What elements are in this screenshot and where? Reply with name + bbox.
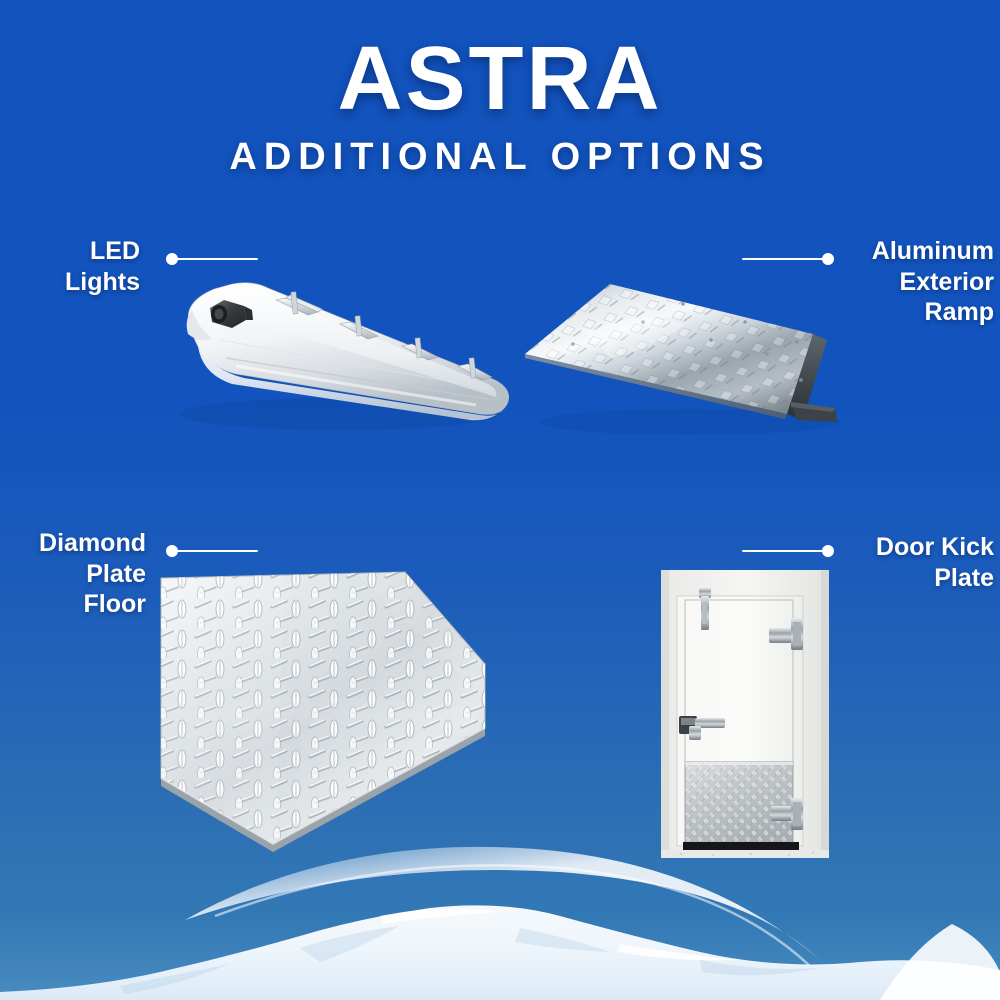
callout-label-door-kick-plate: Door Kick Plate xyxy=(836,532,994,593)
callout-line: Exterior xyxy=(836,267,994,298)
connector-line xyxy=(174,550,258,552)
poster-canvas: ASTRA ADDITIONAL OPTIONS LED Lights Alum… xyxy=(0,0,1000,1000)
connector-aluminum-exterior-ramp xyxy=(742,253,834,265)
callout-line: Floor xyxy=(8,589,146,620)
callout-line: LED xyxy=(10,236,140,267)
page-subtitle: ADDITIONAL OPTIONS xyxy=(0,138,1000,176)
callout-label-led-lights: LED Lights xyxy=(10,236,140,297)
kick-plate-panel xyxy=(685,762,793,844)
connector-dot-icon xyxy=(822,545,834,557)
product-image-diamond-plate-floor xyxy=(155,568,507,856)
page-title: ASTRA xyxy=(0,34,1000,124)
callout-line: Aluminum xyxy=(836,236,994,267)
callout-line: Ramp xyxy=(836,297,994,328)
product-image-door-kick-plate xyxy=(655,566,835,866)
callout-label-aluminum-exterior-ramp: Aluminum Exterior Ramp xyxy=(836,236,994,328)
connector-line xyxy=(174,258,258,260)
product-image-led-light-fixture xyxy=(140,262,530,452)
product-image-aluminum-exterior-ramp xyxy=(515,262,845,442)
callout-label-diamond-plate-floor: Diamond Plate Floor xyxy=(8,528,146,620)
connector-line xyxy=(742,550,826,552)
callout-line: Plate xyxy=(836,563,994,594)
callout-line: Diamond xyxy=(8,528,146,559)
callout-line: Door Kick xyxy=(836,532,994,563)
connector-dot-icon xyxy=(822,253,834,265)
callout-line: Lights xyxy=(10,267,140,298)
connector-led-lights xyxy=(166,253,258,265)
connector-door-kick-plate xyxy=(742,545,834,557)
connector-diamond-plate-floor xyxy=(166,545,258,557)
callout-line: Plate xyxy=(8,559,146,590)
connector-line xyxy=(742,258,826,260)
poster-header: ASTRA ADDITIONAL OPTIONS xyxy=(0,0,1000,176)
